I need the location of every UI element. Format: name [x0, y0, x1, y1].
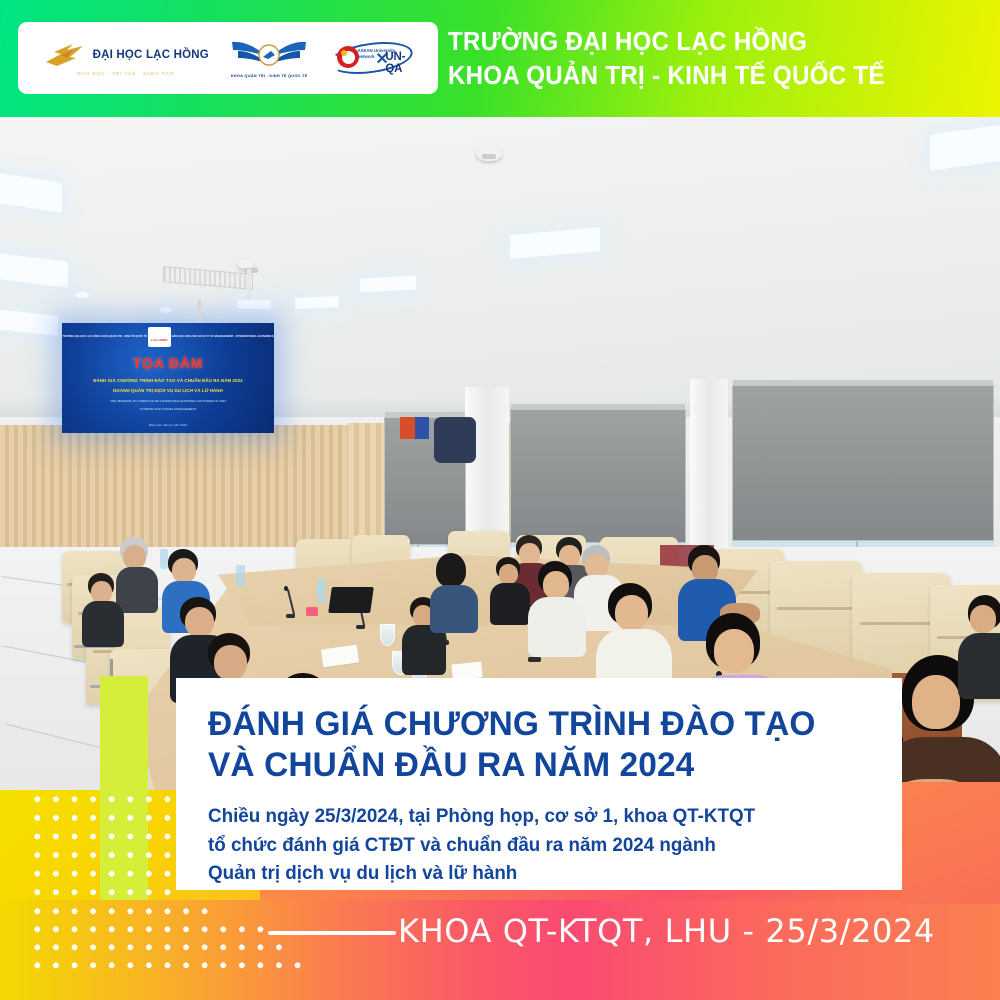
- card-title-line-2: VÀ CHUẨN ĐẦU RA NĂM 2024: [208, 745, 852, 786]
- lac-hong-logo-tagline: ĐẠO ĐỨC - TRÍ TUỆ - SÁNG TẠO: [77, 71, 174, 76]
- window-blind: [510, 409, 686, 543]
- water-bottle: [160, 549, 168, 569]
- faculty-wings-icon: [230, 38, 308, 72]
- slide-english-2: TOURISM AND TRAVEL MANAGEMENT: [62, 407, 274, 413]
- dot-pattern: [28, 956, 306, 978]
- projection-screen: TRƯỜNG ĐẠI HỌC LẠC HỒNG KHOA QUẢN TRỊ - …: [62, 323, 274, 433]
- microphone-head: [284, 586, 288, 591]
- lac-hong-bird-icon: [43, 40, 89, 70]
- laptop: [328, 587, 374, 613]
- lac-hong-logo-text: ĐẠI HỌC LẠC HỒNG: [93, 49, 209, 61]
- smoke-detector-icon: [476, 145, 502, 161]
- slide-subtitle-1: ĐÁNH GIÁ CHƯƠNG TRÌNH ĐÀO TẠO VÀ CHUẨN Đ…: [62, 377, 274, 384]
- slide-badge-text: LAC HONG: [151, 338, 168, 342]
- smoke-detector-icon: [238, 259, 254, 269]
- lac-hong-university-logo: ĐẠI HỌC LẠC HỒNG ĐẠO ĐỨC - TRÍ TUỆ - SÁN…: [43, 40, 209, 76]
- slide-subtitle-2: NGÀNH QUẢN TRỊ DỊCH VỤ DU LỊCH VÀ LỮ HÀN…: [62, 387, 274, 394]
- slide-org-right: NĂM HỌC 2023-2024 FACULTY OF MANAGEMENT …: [172, 335, 274, 339]
- ceiling-downlight: [160, 307, 172, 313]
- card-body-line-3: Quản trị dịch vụ du lịch và lữ hành: [208, 860, 859, 889]
- flag: [415, 417, 429, 439]
- card-body-line-1: Chiều ngày 25/3/2024, tại Phòng họp, cơ …: [208, 803, 859, 832]
- aun-qa-text: UN-QA: [385, 51, 413, 75]
- title-card: ĐÁNH GIÁ CHƯƠNG TRÌNH ĐÀO TẠO VÀ CHUẨN Đ…: [176, 678, 902, 890]
- microphone-base: [528, 657, 541, 662]
- faculty-logo: KHOA QUẢN TRỊ - KINH TẾ QUỐC TẾ: [230, 38, 308, 78]
- header-title-block: TRƯỜNG ĐẠI HỌC LẠC HỒNG KHOA QUẢN TRỊ - …: [448, 25, 988, 93]
- ceiling-light-panel: [360, 276, 416, 293]
- ceiling-downlight: [75, 292, 89, 298]
- drinking-glass: [380, 624, 395, 646]
- slide-badge: LAC HONG: [148, 327, 171, 347]
- header-banner: ĐẠI HỌC LẠC HỒNG ĐẠO ĐỨC - TRÍ TUỆ - SÁN…: [0, 0, 1000, 117]
- header-university-name: TRƯỜNG ĐẠI HỌC LẠC HỒNG: [448, 25, 956, 59]
- poster-root: ĐẠI HỌC LẠC HỒNG ĐẠO ĐỨC - TRÍ TUỆ - SÁN…: [0, 0, 1000, 1000]
- slide-org-left: TRƯỜNG ĐẠI HỌC LẠC HỒNG KHOA QUẢN TRỊ - …: [62, 335, 147, 339]
- water-bottle: [317, 579, 326, 603]
- slide-title: TỌA ĐÀM: [62, 355, 274, 371]
- faculty-logo-text: KHOA QUẢN TRỊ - KINH TẾ QUỐC TẾ: [231, 73, 308, 78]
- card-title-line-1: ĐÁNH GIÁ CHƯƠNG TRÌNH ĐÀO TẠO: [208, 704, 852, 745]
- card-body-line-2: tổ chức đánh giá CTĐT và chuẩn đầu ra nă…: [208, 832, 859, 861]
- flag: [400, 417, 416, 439]
- ceiling-light-panel: [237, 300, 271, 309]
- footer-rule: [268, 931, 396, 935]
- slide-english-1: THE SEMINAR ON CURRICULUM & EXPECTED LEA…: [62, 399, 274, 405]
- backpack: [434, 417, 476, 463]
- header-faculty-name: KHOA QUẢN TRỊ - KINH TẾ QUỐC TẾ: [448, 59, 956, 93]
- window-blind: [732, 385, 994, 541]
- ceiling-pipe: [247, 269, 251, 299]
- dot-pattern: [28, 790, 180, 902]
- tissue-box: [306, 607, 318, 616]
- aun-qa-logo: ASEAN University Network ✕ UN-QA: [329, 37, 413, 79]
- footer-credit: KHOA QT-KTQT, LHU - 25/3/2024: [398, 908, 935, 954]
- projector-mount: [198, 299, 201, 321]
- orange-decor-card: [900, 782, 1000, 904]
- logo-card: ĐẠI HỌC LẠC HỒNG ĐẠO ĐỨC - TRÍ TUỆ - SÁN…: [18, 22, 438, 94]
- slide-date: Đồng Nai, tháng 3 năm 2024: [62, 423, 274, 427]
- water-bottle: [236, 565, 245, 587]
- ceiling-light-panel: [295, 296, 339, 309]
